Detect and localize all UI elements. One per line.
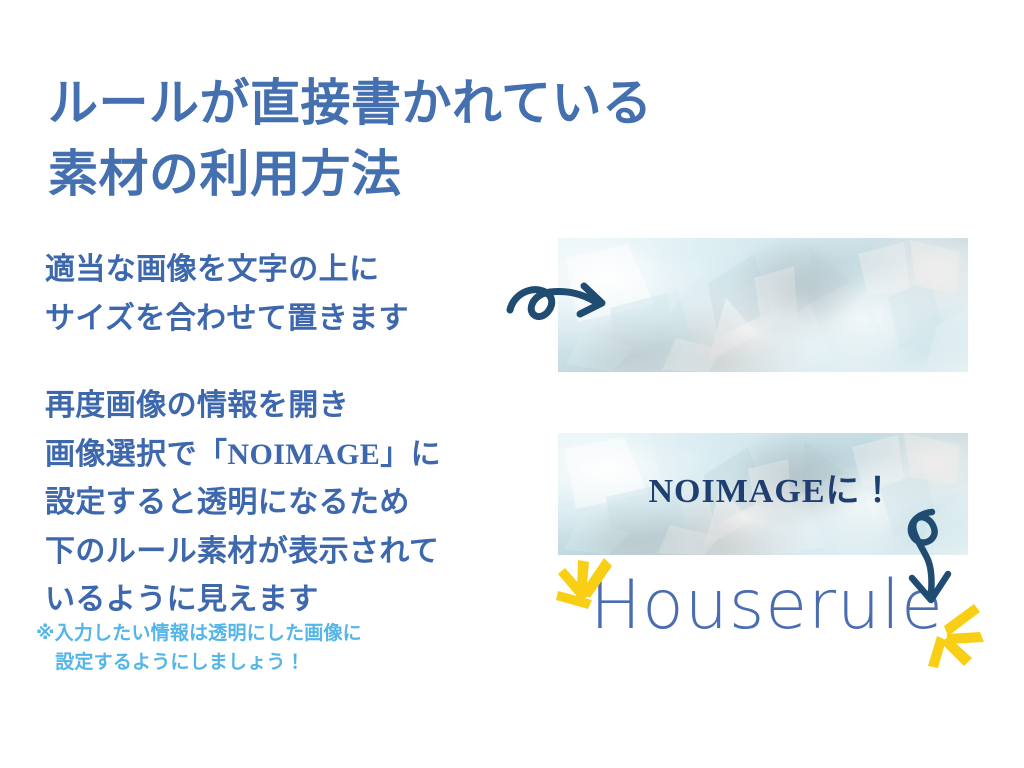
sparkle-left-svg: [556, 556, 618, 622]
slide-canvas: ルールが直接書かれている 素材の利用方法 適当な画像を文字の上に サイズを合わせ…: [0, 0, 1024, 768]
instruction-paragraph-1: 適当な画像を文字の上に サイズを合わせて置きます: [45, 246, 515, 343]
sparkle-icon: [556, 556, 618, 627]
curly-arrow-right-icon: [506, 276, 614, 337]
sparkle-right-svg: [918, 596, 988, 670]
curly-arrow-right-svg: [506, 276, 614, 332]
crystal-image-top: [558, 238, 968, 372]
sparkle-icon-secondary: [918, 596, 988, 675]
houserule-wordmark: Houserule: [590, 572, 944, 640]
crystal-image-overlay: [558, 238, 968, 372]
footnote-text: ※入力したい情報は透明にした画像に 設定するようにしましょう！: [36, 620, 486, 678]
instruction-paragraph-2: 再度画像の情報を開き 画像選択で「NOIMAGE」に 設定すると透明になるため …: [45, 382, 535, 625]
curly-arrow-down-svg: [898, 508, 960, 608]
noimage-label: NOIMAGEに！: [558, 463, 968, 512]
page-title: ルールが直接書かれている 素材の利用方法: [48, 68, 748, 210]
